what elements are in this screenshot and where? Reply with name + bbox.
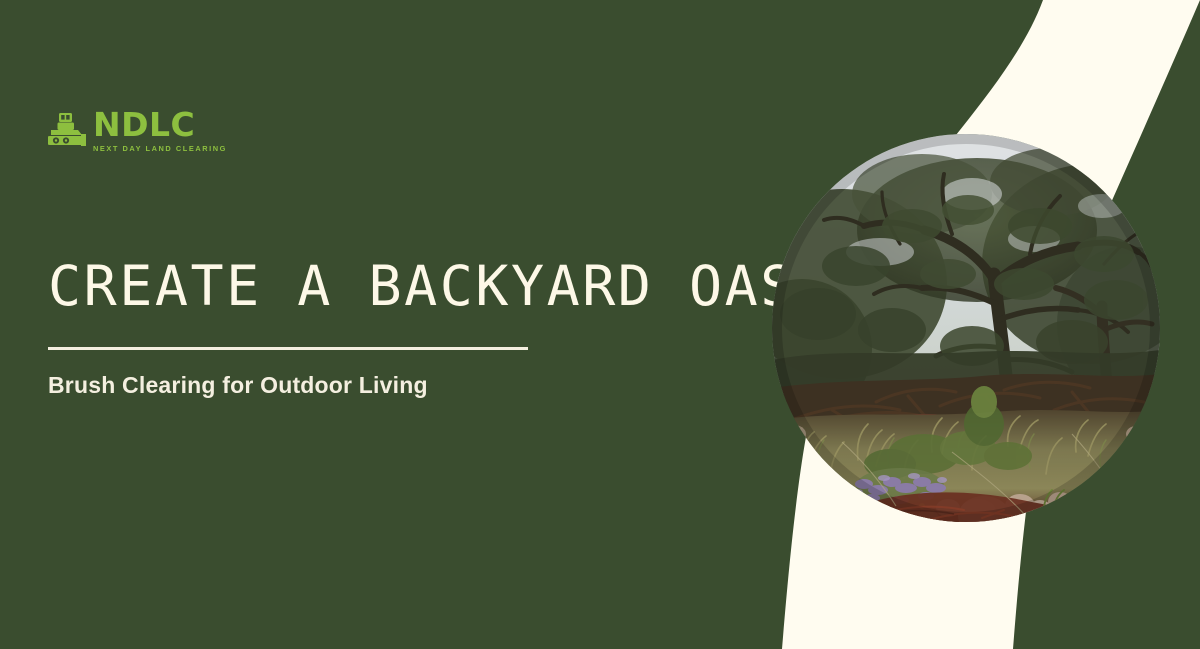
bulldozer-icon — [48, 110, 90, 152]
headline-block: CREATE A BACKYARD OASIS Brush Clearing f… — [48, 258, 838, 399]
title-divider — [48, 347, 528, 350]
photo-artwork — [772, 134, 1160, 522]
backyard-land-clearing-photo — [772, 134, 1160, 522]
page-subtitle: Brush Clearing for Outdoor Living — [48, 372, 838, 399]
marketing-banner: NDLC NEXT DAY LAND CLEARING CREATE A BAC… — [0, 0, 1200, 649]
page-title: CREATE A BACKYARD OASIS — [48, 258, 838, 315]
logo-tagline: NEXT DAY LAND CLEARING — [93, 144, 227, 153]
logo-wordmark: NDLC NEXT DAY LAND CLEARING — [93, 109, 227, 152]
logo-initials: NDLC — [93, 109, 227, 140]
ndlc-logo[interactable]: NDLC NEXT DAY LAND CLEARING — [48, 105, 248, 157]
